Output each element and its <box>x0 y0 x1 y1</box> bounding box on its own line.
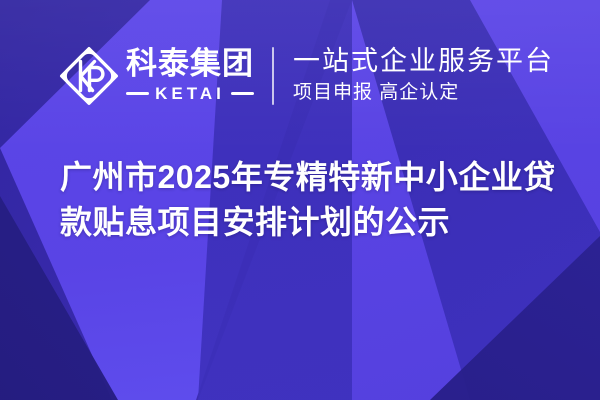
promo-banner: 科泰集团 KETAI 一站式企业服务平台 项目申报 高企认定 广州市2025年专… <box>0 0 600 400</box>
header-tagline: 一站式企业服务平台 项目申报 高企认定 <box>293 46 554 106</box>
page-title: 广州市2025年专精特新中小企业贷款贴息项目安排计划的公示 <box>60 155 560 246</box>
logo-company-name-en: KETAI <box>155 84 225 104</box>
banner-header: 科泰集团 KETAI 一站式企业服务平台 项目申报 高企认定 <box>58 42 554 110</box>
tagline-secondary: 项目申报 高企认定 <box>293 80 554 106</box>
ketai-logo-icon <box>58 45 120 107</box>
header-divider <box>272 47 274 105</box>
logo-company-name-cn: 科泰集团 <box>126 48 254 81</box>
logo-company-name-en-row: KETAI <box>126 84 254 104</box>
logo-rule-right <box>231 92 254 95</box>
logo-wordmark: 科泰集团 KETAI <box>126 48 254 104</box>
tagline-primary: 一站式企业服务平台 <box>293 46 554 77</box>
logo-rule-left <box>126 92 149 95</box>
